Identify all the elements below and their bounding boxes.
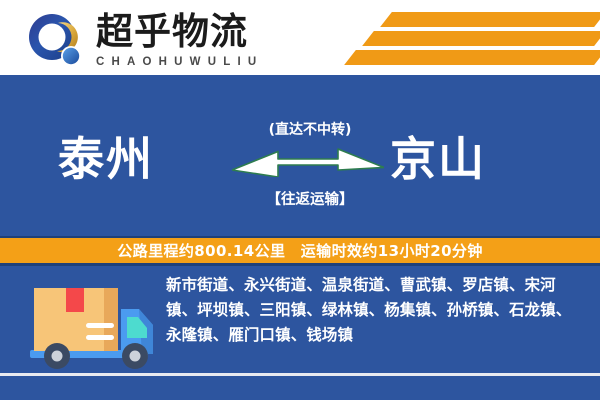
direct-service-note: (直达不中转) xyxy=(240,119,380,139)
header-stripe-3 xyxy=(344,50,600,65)
roundtrip-note: 【往返运输】 xyxy=(238,188,382,209)
route-section: 泰州 (直达不中转) 【往返运输】 京山 xyxy=(0,75,600,236)
route-summary-text: 公路里程约800.14公里 运输时效约13小时20分钟 xyxy=(117,240,482,261)
coverage-section: 新市街道、永兴街道、温泉街道、曹武镇、罗店镇、宋河镇、坪坝镇、三阳镇、绿林镇、杨… xyxy=(0,266,600,400)
header: 超乎物流 CHAOHUWULIU xyxy=(0,0,600,75)
header-stripe-1 xyxy=(380,12,600,27)
coverage-areas-text: 新市街道、永兴街道、温泉街道、曹武镇、罗店镇、宋河镇、坪坝镇、三阳镇、绿林镇、杨… xyxy=(166,273,584,348)
brand-lockup: 超乎物流 CHAOHUWULIU xyxy=(96,10,306,69)
circle-q-logo-icon xyxy=(26,12,88,70)
destination-city: 京山 xyxy=(390,131,486,187)
header-stripe-2 xyxy=(362,31,600,46)
brand-name-cn: 超乎物流 xyxy=(96,10,306,54)
delivery-truck-icon xyxy=(22,276,162,374)
logistics-route-banner: 超乎物流 CHAOHUWULIU 泰州 (直达不中转) 【往返运输】 京山 公路… xyxy=(0,0,600,400)
brand-name-en: CHAOHUWULIU xyxy=(96,55,306,69)
double-headed-arrow-icon xyxy=(232,143,384,177)
route-summary-bar: 公路里程约800.14公里 运输时效约13小时20分钟 xyxy=(0,236,600,266)
origin-city: 泰州 xyxy=(58,131,154,187)
bottom-divider xyxy=(0,373,600,376)
